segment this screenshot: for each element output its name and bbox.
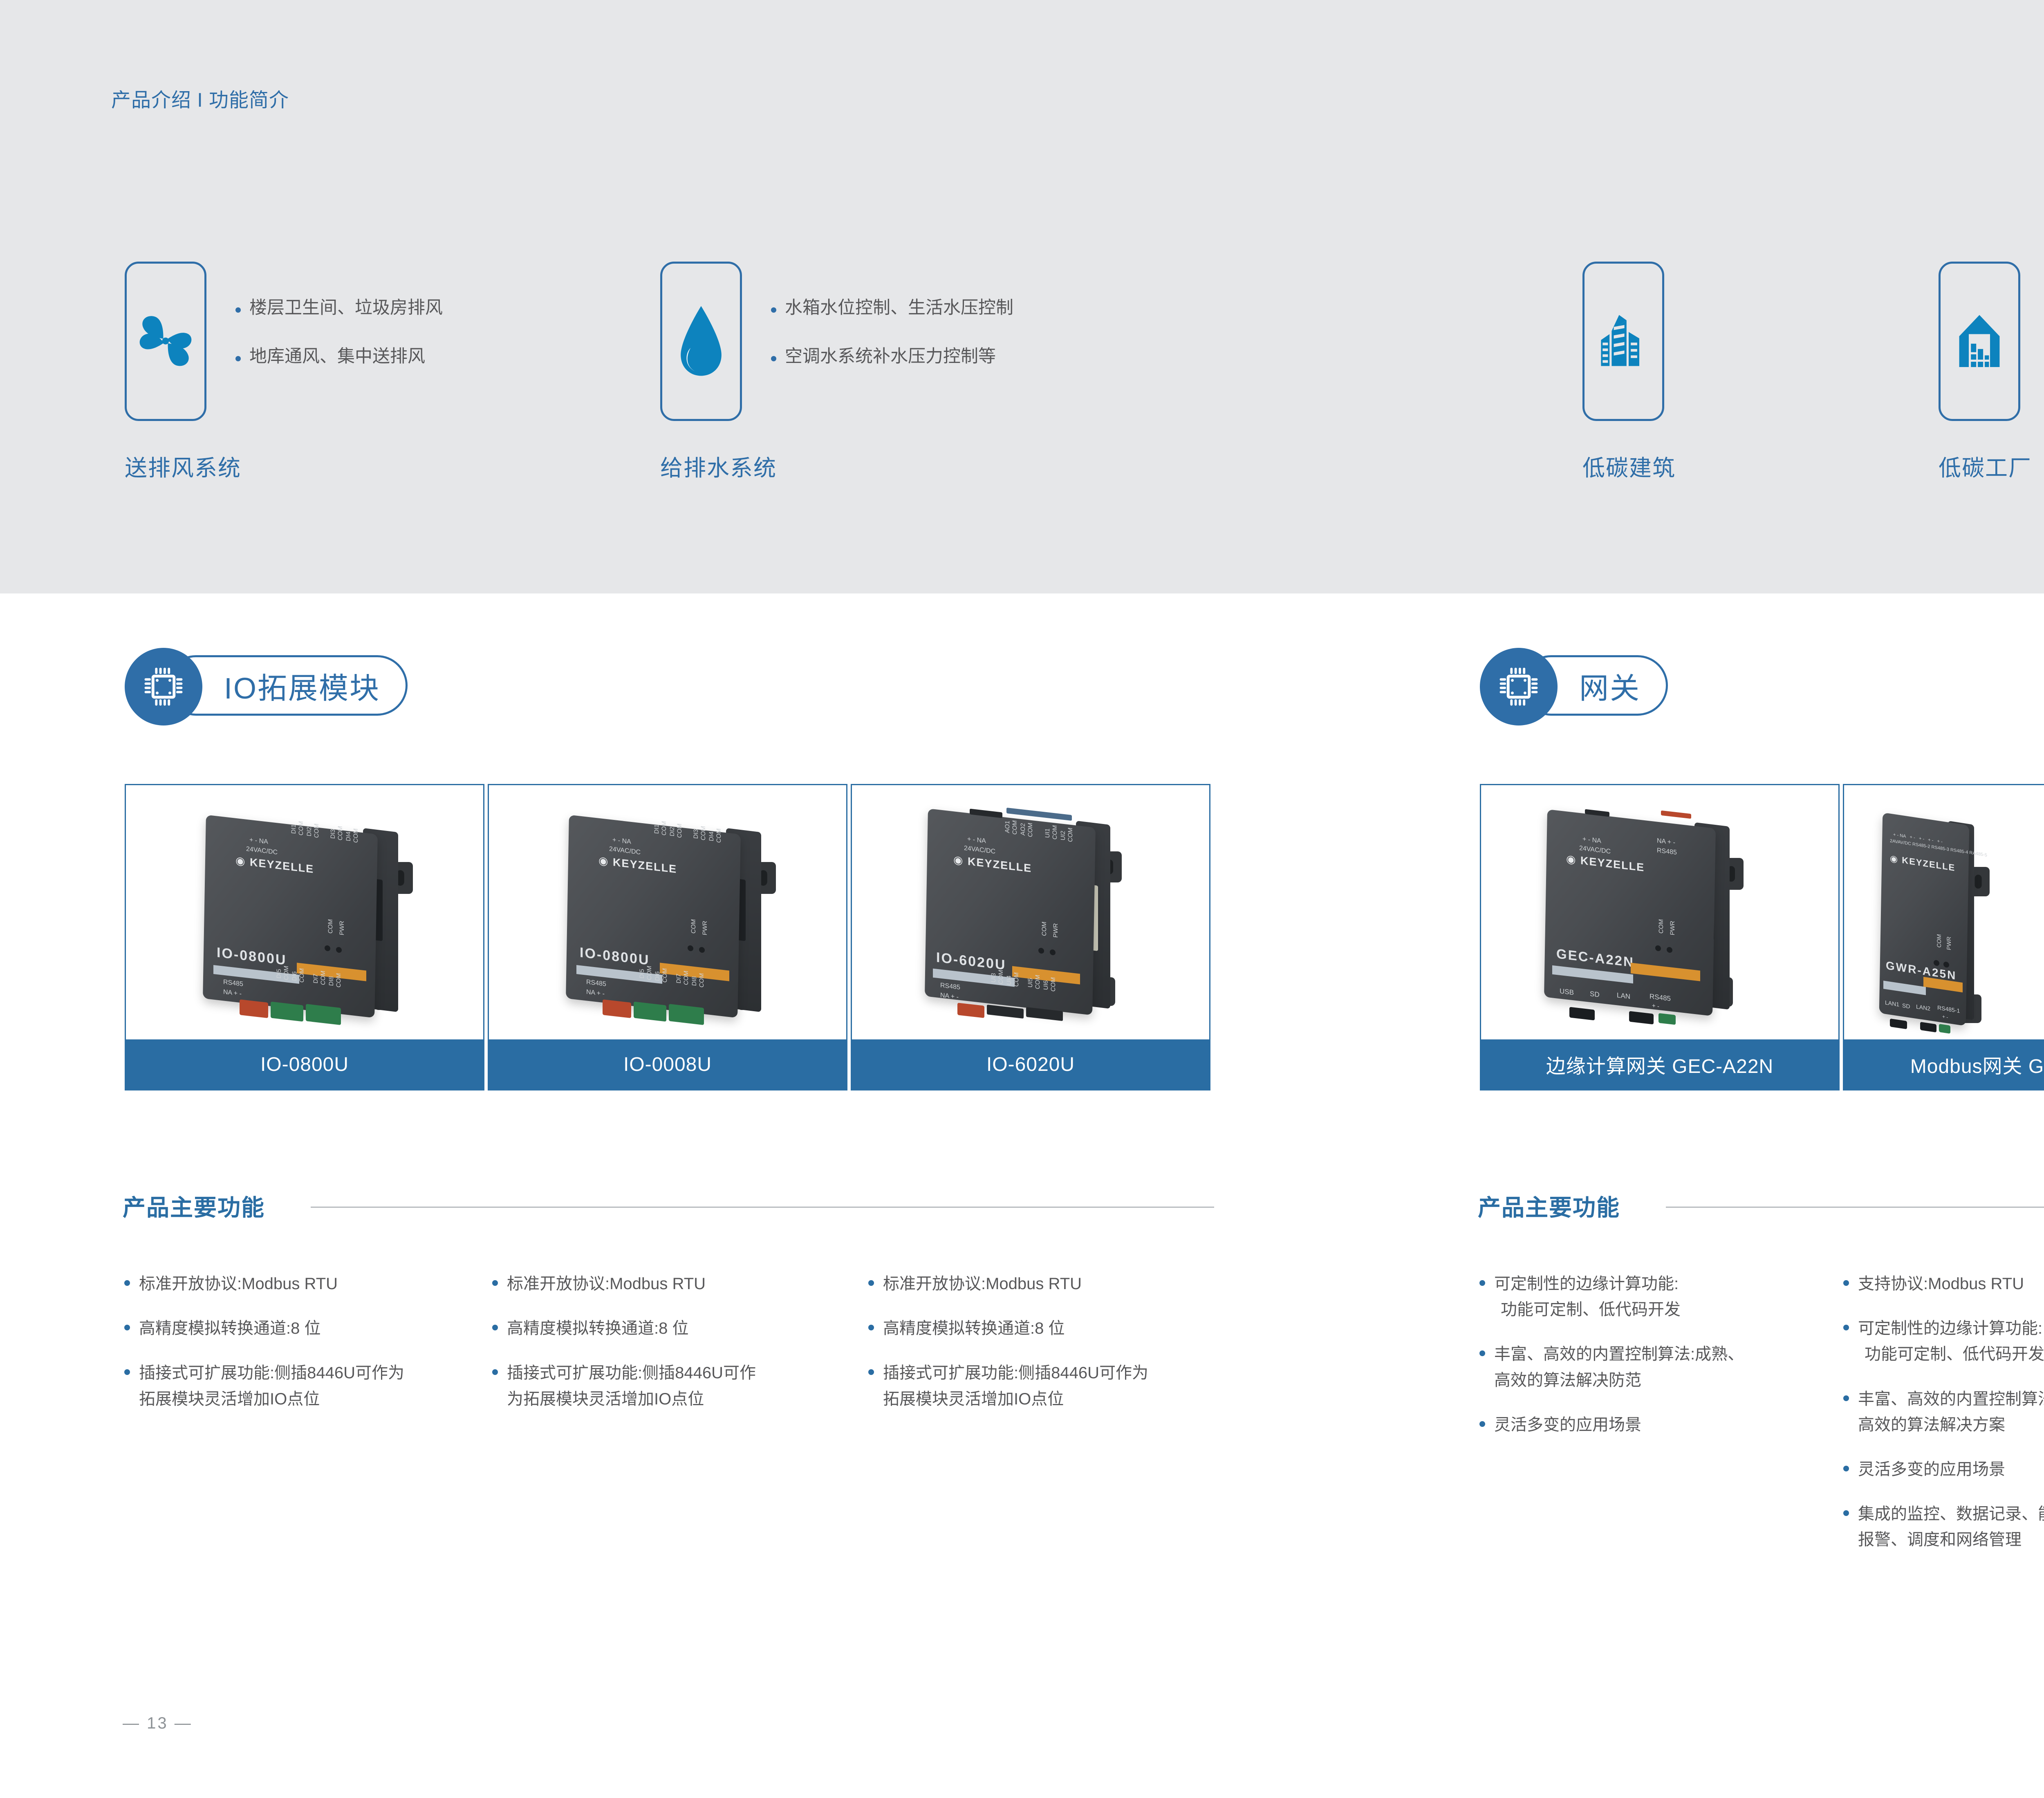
scenario-bullet-list: 楼层卫生间、垃圾房排风 地库通风、集中送排风 [233, 299, 443, 396]
chip-icon-badge [1480, 648, 1558, 725]
fan-icon [137, 311, 194, 372]
device-illustration: ◉ KEYZELLE + - NA 24VAC/DC DI1 COM DI2 C… [489, 785, 846, 1039]
product-card-gwr-a25n[interactable]: ◉ KEYZELLE + - NA + - + - + - + - 2AVAV/… [1843, 784, 2044, 1090]
tile-caption: 低碳建筑 [1582, 450, 1676, 482]
tile-low-carbon-building: 低碳建筑 [1582, 262, 1676, 482]
chip-icon [141, 664, 186, 709]
list-item: 丰富、高效的内置控制算法:成熟、 高效的算法解决防范 [1478, 1341, 1838, 1393]
product-label: Modbus网关 GWR-A25N [1844, 1039, 2044, 1089]
device-illustration: ◉ KEYZELLE + - NA + - + - + - + - 2AVAV/… [1844, 785, 2044, 1039]
features-title-gw: 产品主要功能 [1478, 1189, 1620, 1223]
list-item: 支持协议:Modbus RTU [1842, 1271, 2044, 1297]
product-label: 边缘计算网关 GEC-A22N [1481, 1039, 1838, 1089]
runhead-left: 产品介绍 I 功能简介 [111, 84, 289, 112]
list-item: 地库通风、集中送排风 [233, 348, 443, 365]
feature-column-io-2: 标准开放协议:Modbus RTU 高精度模拟转换通道:8 位 插接式可扩展功能… [491, 1271, 838, 1431]
features-title-io: 产品主要功能 [123, 1189, 265, 1223]
feature-column-gw-2: 支持协议:Modbus RTU 可定制性的边缘计算功能: 功能可定制、低代码开发… [1842, 1271, 2044, 1572]
water-drop-icon-box [660, 262, 742, 421]
tile-low-carbon-factory: 低碳工厂 [1939, 262, 2032, 482]
device-illustration: ◉ KEYZELLE + - NA 24VAC/DC AO1 COM AO2 C… [852, 785, 1209, 1039]
feature-column-io-3: 标准开放协议:Modbus RTU 高精度模拟转换通道:8 位 插接式可扩展功能… [867, 1271, 1214, 1431]
features-rule-io [311, 1207, 1214, 1208]
list-item: 标准开放协议:Modbus RTU [491, 1271, 838, 1297]
scenario-ventilation: 送排风系统 楼层卫生间、垃圾房排风 地库通风、集中送排风 [125, 262, 241, 482]
list-item: 标准开放协议:Modbus RTU [123, 1271, 470, 1297]
product-label: IO-0008U [489, 1039, 846, 1089]
product-photo: ◉ KEYZELLE + - NA + - + - + - + - 2AVAV/… [1844, 785, 2044, 1039]
product-card-gec-a22n[interactable]: ◉ KEYZELLE + - NA 24VAC/DC NA + - RS485 … [1480, 784, 1840, 1090]
water-drop-icon [675, 304, 728, 379]
list-item: 插接式可扩展功能:侧插8446U可作为 拓展模块灵活增加IO点位 [867, 1360, 1214, 1412]
list-item: 高精度模拟转换通道:8 位 [867, 1316, 1214, 1341]
chip-icon-badge [125, 648, 202, 725]
feature-column-io-1: 标准开放协议:Modbus RTU 高精度模拟转换通道:8 位 插接式可扩展功能… [123, 1271, 470, 1431]
office-building-icon [1597, 311, 1650, 372]
scenario-caption: 给排水系统 [660, 450, 777, 482]
product-card-io-0800u[interactable]: ◉ KEYZELLE + - NA 24VAC/DC DI1 COM DI2 C… [125, 784, 484, 1090]
product-label: IO-6020U [852, 1039, 1209, 1089]
section-title: 网关 [1579, 664, 1641, 707]
device-illustration: ◉ KEYZELLE + - NA 24VAC/DC NA + - RS485 … [1481, 785, 1838, 1039]
chip-icon [1496, 664, 1541, 709]
product-card-io-6020u[interactable]: ◉ KEYZELLE + - NA 24VAC/DC AO1 COM AO2 C… [851, 784, 1210, 1090]
device-illustration: ◉ KEYZELLE + - NA 24VAC/DC DI1 COM DI2 C… [126, 785, 483, 1039]
scenario-caption: 送排风系统 [125, 450, 241, 482]
product-label: IO-0800U [126, 1039, 483, 1089]
office-building-icon-box [1582, 262, 1664, 421]
tile-caption: 低碳工厂 [1939, 450, 2032, 482]
list-item: 水箱水位控制、生活水压控制 [769, 299, 1013, 317]
features-rule-gw [1666, 1207, 2044, 1208]
list-item: 高精度模拟转换通道:8 位 [491, 1316, 838, 1341]
feature-column-gw-1: 可定制性的边缘计算功能: 功能可定制、低代码开发 丰富、高效的内置控制算法:成熟… [1478, 1271, 1838, 1457]
list-item: 空调水系统补水压力控制等 [769, 348, 1013, 365]
page-number-left: — 13 — [123, 1714, 193, 1733]
list-item: 楼层卫生间、垃圾房排风 [233, 299, 443, 317]
product-card-io-0008u[interactable]: ◉ KEYZELLE + - NA 24VAC/DC DI1 COM DI2 C… [488, 784, 847, 1090]
list-item: 插接式可扩展功能:侧插8446U可作为 拓展模块灵活增加IO点位 [123, 1360, 470, 1412]
product-photo: ◉ KEYZELLE + - NA 24VAC/DC DI1 COM DI2 C… [126, 785, 483, 1039]
section-title: IO拓展模块 [224, 664, 380, 707]
list-item: 灵活多变的应用场景 [1478, 1412, 1838, 1438]
list-item: 插接式可扩展功能:侧插8446U可作 为拓展模块灵活增加IO点位 [491, 1360, 838, 1412]
list-item: 丰富、高效的内置控制算法:成熟、 高效的算法解决方案 [1842, 1386, 2044, 1438]
list-item: 标准开放协议:Modbus RTU [867, 1271, 1214, 1297]
product-photo: ◉ KEYZELLE + - NA 24VAC/DC AO1 COM AO2 C… [852, 785, 1209, 1039]
brochure-page: 产品介绍 I 功能简介 产品介绍 I 功能简介 送排风系统 楼层卫生间、垃圾房排… [0, 0, 2044, 1798]
scenario-water-supply: 给排水系统 水箱水位控制、生活水压控制 空调水系统补水压力控制等 [660, 262, 777, 482]
list-item: 灵活多变的应用场景 [1842, 1457, 2044, 1482]
list-item: 可定制性的边缘计算功能: 功能可定制、低代码开发 [1478, 1271, 1838, 1323]
list-item: 高精度模拟转换通道:8 位 [123, 1316, 470, 1341]
fan-icon-box [125, 262, 206, 421]
list-item: 可定制性的边缘计算功能: 功能可定制、低代码开发 [1842, 1316, 2044, 1367]
factory-icon-box [1939, 262, 2020, 421]
factory-icon [1953, 311, 2006, 372]
product-photo: ◉ KEYZELLE + - NA 24VAC/DC DI1 COM DI2 C… [489, 785, 846, 1039]
scenario-bullet-list: 水箱水位控制、生活水压控制 空调水系统补水压力控制等 [769, 299, 1013, 396]
list-item: 集成的监控、数据记录、能耗计量、 报警、调度和网络管理 [1842, 1501, 2044, 1553]
top-grey-band [0, 0, 2044, 593]
product-photo: ◉ KEYZELLE + - NA 24VAC/DC NA + - RS485 … [1481, 785, 1838, 1039]
